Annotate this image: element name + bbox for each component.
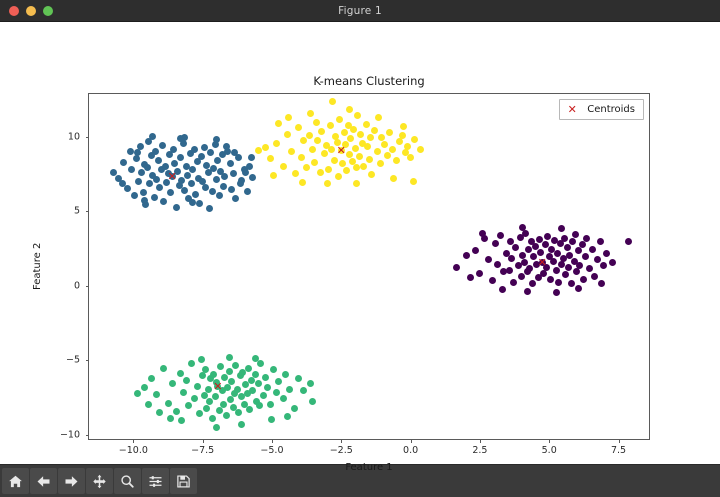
scatter-point [576,262,583,269]
scatter-point [317,169,324,176]
scatter-point [216,192,223,199]
scatter-point [178,417,185,424]
scatter-point [167,415,174,422]
scatter-point [226,354,233,361]
scatter-point [573,268,580,275]
scatter-point [353,164,360,171]
scatter-point [203,162,210,169]
scatter-point [282,371,289,378]
scatter-point [463,252,470,259]
scatter-point [194,383,201,390]
scatter-point [198,356,205,363]
scatter-point [309,398,316,405]
scatter-point [183,163,190,170]
scatter-point [275,378,282,385]
scatter-point [221,173,228,180]
scatter-point [189,199,196,206]
scatter-point [284,413,291,420]
scatter-point [295,375,302,382]
scatter-point [609,259,616,266]
scatter-point [497,232,504,239]
scatter-point [347,135,354,142]
scatter-point [526,265,533,272]
scatter-point [209,188,216,195]
scatter-point [377,160,384,167]
scatter-point [228,186,235,193]
scatter-point [191,146,198,153]
centroid-marker: ✕ [167,171,178,182]
scatter-point [140,189,147,196]
scatter-point [227,396,234,403]
figure-window: Figure 1 K-means Clustering Feature 2 Fe… [0,0,720,497]
scatter-point [234,386,241,393]
scatter-point [537,249,544,256]
scatter-point [411,136,418,143]
scatter-point [356,153,363,160]
scatter-point [201,392,208,399]
scatter-point [580,276,587,283]
scatter-point [146,180,153,187]
scatter-point [177,154,184,161]
scatter-point [598,280,605,287]
scatter-point [160,198,167,205]
scatter-point [226,368,233,375]
scatter-point [273,389,280,396]
move-arrows-icon [92,474,107,489]
y-axis-tick-label: 0 [74,280,80,291]
scatter-point [257,360,264,367]
scatter-point [564,244,571,251]
scatter-point [133,155,140,162]
scatter-point [393,157,400,164]
scatter-point [575,285,582,292]
scatter-point [506,267,513,274]
scatter-point [375,114,382,121]
scatter-point [209,415,216,422]
scatter-point [341,129,348,136]
scatter-point [280,395,287,402]
scatter-point [366,156,373,163]
scatter-point [248,154,255,161]
scatter-point [188,360,195,367]
scatter-point [569,238,576,245]
scatter-point [353,180,360,187]
x-axis-tick-label: −2.5 [330,445,353,456]
scatter-point [352,145,359,152]
scatter-point [141,384,148,391]
centroid-marker-icon: ✕ [564,103,580,116]
scatter-point [280,163,287,170]
scatter-point [407,154,414,161]
scatter-point [404,143,411,150]
scatter-point [346,106,353,113]
x-axis-tick-label: −7.5 [191,445,214,456]
scatter-point [217,363,224,370]
scatter-point [331,157,338,164]
forward-button[interactable] [58,468,85,494]
scatter-point [196,200,203,207]
scatter-point [499,286,506,293]
x-axis-tick [411,439,412,443]
floppy-disk-icon [176,474,191,489]
scatter-point [264,384,271,391]
sliders-icon [148,474,163,489]
scatter-point [560,255,567,262]
scatter-point [120,159,127,166]
x-axis-tick [133,439,134,443]
scatter-point [267,155,274,162]
scatter-point [329,98,336,105]
x-axis-tick [549,439,550,443]
scatter-point [156,184,163,191]
scatter-point [307,110,314,117]
scatter-point [327,122,334,129]
scatter-point [128,166,135,173]
page-title: K-means Clustering [88,74,650,88]
scatter-point [367,134,374,141]
centroid-marker: ✕ [336,145,347,156]
scatter-point [357,131,364,138]
y-axis-tick [86,435,90,436]
scatter-point [555,279,562,286]
scatter-point [148,375,155,382]
scatter-point [321,150,328,157]
x-axis-tick-label: −5.0 [260,445,283,456]
scatter-point [255,380,262,387]
scatter-point [489,277,496,284]
scatter-point [189,166,196,173]
scatter-point [299,179,306,186]
scatter-point [579,241,586,248]
scatter-point [230,170,237,177]
scatter-point [170,146,177,153]
scatter-point [324,180,331,187]
x-axis-label: Feature 1 [88,462,650,473]
scatter-point [224,384,231,391]
scatter-point [134,390,141,397]
scatter-point [202,366,209,373]
scatter-point [485,256,492,263]
scatter-point [525,246,532,253]
scatter-point [181,134,188,141]
scatter-point [558,225,565,232]
centroid-marker: ✕ [212,381,223,392]
scatter-point [216,407,223,414]
scatter-point [384,152,391,159]
x-axis-tick-label: 0.0 [403,445,418,456]
scatter-point [575,247,582,254]
scatter-point [191,395,198,402]
scatter-point [165,400,172,407]
y-axis-tick-label: −5 [66,355,80,366]
scatter-point [295,124,302,131]
scatter-point [600,262,607,269]
scatter-point [479,230,486,237]
scatter-point [141,197,148,204]
scatter-point [185,402,192,409]
scatter-point [144,164,151,171]
scatter-point [510,279,517,286]
scatter-plot-axes[interactable]: ✕ Centroids −10.0−7.5−5.0−2.50.02.55.07.… [88,93,650,440]
scatter-point [173,204,180,211]
scatter-point [232,195,239,202]
scatter-point [389,146,396,153]
scatter-point [173,408,180,415]
y-axis-tick-label: 10 [68,132,80,143]
scatter-point [206,205,213,212]
scatter-point [512,244,519,251]
scatter-point [275,120,282,127]
scatter-point [145,401,152,408]
home-button[interactable] [2,468,29,494]
y-axis-tick [86,211,90,212]
scatter-point [188,180,195,187]
scatter-point [494,261,501,268]
scatter-point [550,258,557,265]
scatter-point [220,183,227,190]
scatter-point [360,163,367,170]
scatter-point [309,146,316,153]
scatter-point [232,362,239,369]
window-title: Figure 1 [0,5,720,17]
x-axis-tick-label: 5.0 [542,445,557,456]
y-axis-label: Feature 2 [32,93,43,440]
scatter-point [396,138,403,145]
x-axis-tick [272,439,273,443]
arrow-right-icon [64,474,79,489]
scatter-point [318,128,325,135]
scatter-point [256,402,263,409]
scatter-point [270,172,277,179]
window-titlebar: Figure 1 [0,0,720,22]
scatter-point [400,123,407,130]
scatter-point [153,176,160,183]
scatter-point [199,372,206,379]
scatter-point [519,252,526,259]
scatter-point [292,170,299,177]
y-axis-tick [86,137,90,138]
scatter-point [410,178,417,185]
scatter-point [205,386,212,393]
scatter-point [135,178,142,185]
scatter-point [561,235,568,242]
magnifier-icon [120,474,135,489]
scatter-point [371,127,378,134]
scatter-point [223,143,230,150]
x-axis-tick [203,439,204,443]
scatter-point [223,412,230,419]
centroid-marker: ✕ [537,257,548,268]
scatter-point [227,160,234,167]
y-axis-tick [86,286,90,287]
scatter-point [381,141,388,148]
x-axis-tick [341,439,342,443]
scatter-point [524,288,531,295]
scatter-point [597,238,604,245]
scatter-point [285,114,292,121]
scatter-point [553,267,560,274]
scatter-point [273,140,280,147]
scatter-point [368,171,375,178]
y-axis-tick [86,360,90,361]
scatter-point [492,240,499,247]
back-button[interactable] [30,468,57,494]
scatter-point [529,280,536,287]
scatter-point [210,371,217,378]
scatter-point [399,132,406,139]
scatter-point [591,273,598,280]
scatter-point [152,148,159,155]
scatter-point [220,401,227,408]
scatter-point [155,157,162,164]
scatter-point [363,121,370,128]
scatter-point [242,169,249,176]
scatter-point [235,409,242,416]
scatter-point [335,173,342,180]
scatter-point [167,189,174,196]
scatter-point [177,370,184,377]
scatter-point [481,235,488,242]
scatter-point [589,246,596,253]
scatter-point [286,386,293,393]
scatter-point [207,149,214,156]
home-icon [8,474,23,489]
minimize-button[interactable] [26,6,36,16]
scatter-point [151,194,158,201]
close-button[interactable] [9,6,19,16]
scatter-point [262,374,269,381]
scatter-point [156,409,163,416]
scatter-point [472,247,479,254]
scatter-point [300,387,307,394]
scatter-point [453,264,460,271]
scatter-point [303,164,310,171]
scatter-point [325,166,332,173]
scatter-point [288,148,295,155]
scatter-point [553,289,560,296]
y-axis-tick-label: −10 [60,429,80,440]
scatter-point [386,129,393,136]
scatter-point [586,265,593,272]
scatter-point [417,146,424,153]
scatter-point [314,137,321,144]
scatter-point [364,143,371,150]
scatter-point [255,147,262,154]
scatter-point [260,392,267,399]
scatter-point [213,176,220,183]
scatter-point [313,119,320,126]
scatter-point [476,270,483,277]
scatter-point [582,253,589,260]
scatter-point [246,406,253,413]
scatter-point [237,180,244,187]
scatter-point [306,132,313,139]
scatter-point [192,191,199,198]
scatter-point [252,371,259,378]
scatter-point [249,174,256,181]
legend-label-centroids: Centroids [587,104,635,115]
x-axis-tick-label: 2.5 [472,445,487,456]
scatter-point [213,424,220,431]
scatter-point [124,185,131,192]
scatter-point [346,151,353,158]
scatter-point [547,276,554,283]
scatter-point [540,270,547,277]
scatter-point [153,391,160,398]
scatter-point [284,131,291,138]
scatter-point [238,421,245,428]
x-axis-tick [480,439,481,443]
scatter-point [171,160,178,167]
scatter-point [336,116,343,123]
scatter-point [343,167,350,174]
scatter-point [245,365,252,372]
scatter-point [268,416,275,423]
arrow-left-icon [36,474,51,489]
scatter-point [252,355,259,362]
x-axis-tick [619,439,620,443]
scatter-point [213,136,220,143]
scatter-point [228,378,235,385]
scatter-point [544,233,551,240]
scatter-point [138,169,145,176]
scatter-point [244,188,251,195]
scatter-point [311,159,318,166]
scatter-point [149,133,156,140]
scatter-point [603,250,610,257]
scatter-point [542,241,549,248]
scatter-point [378,134,385,141]
scatter-point [119,180,126,187]
scatter-point [350,126,357,133]
window-controls [0,6,53,16]
scatter-point [198,153,205,160]
scatter-point [625,238,632,245]
scatter-point [267,401,274,408]
scatter-point [572,231,579,238]
scatter-point [328,146,335,153]
scatter-point [467,274,474,281]
scatter-point [262,144,269,151]
scatter-point [583,235,590,242]
scatter-point [180,389,187,396]
scatter-point [270,366,277,373]
x-axis-tick-label: 7.5 [611,445,626,456]
maximize-button[interactable] [43,6,53,16]
scatter-point [131,192,138,199]
scatter-point [169,380,176,387]
scatter-point [249,387,256,394]
scatter-point [390,175,397,182]
scatter-point [134,149,141,156]
scatter-point [159,142,166,149]
scatter-point [374,148,381,155]
x-axis-tick-label: −10.0 [119,445,148,456]
scatter-point [202,184,209,191]
scatter-point [160,365,167,372]
scatter-point [181,187,188,194]
scatter-point [562,271,569,278]
scatter-point [508,255,515,262]
scatter-point [565,264,572,271]
scatter-point [291,405,298,412]
figure-canvas[interactable]: K-means Clustering Feature 2 Feature 1 ✕… [0,22,720,464]
scatter-point [568,280,575,287]
scatter-point [212,393,219,400]
legend: ✕ Centroids [559,99,644,120]
y-axis-tick-label: 5 [74,206,80,217]
scatter-point [183,377,190,384]
